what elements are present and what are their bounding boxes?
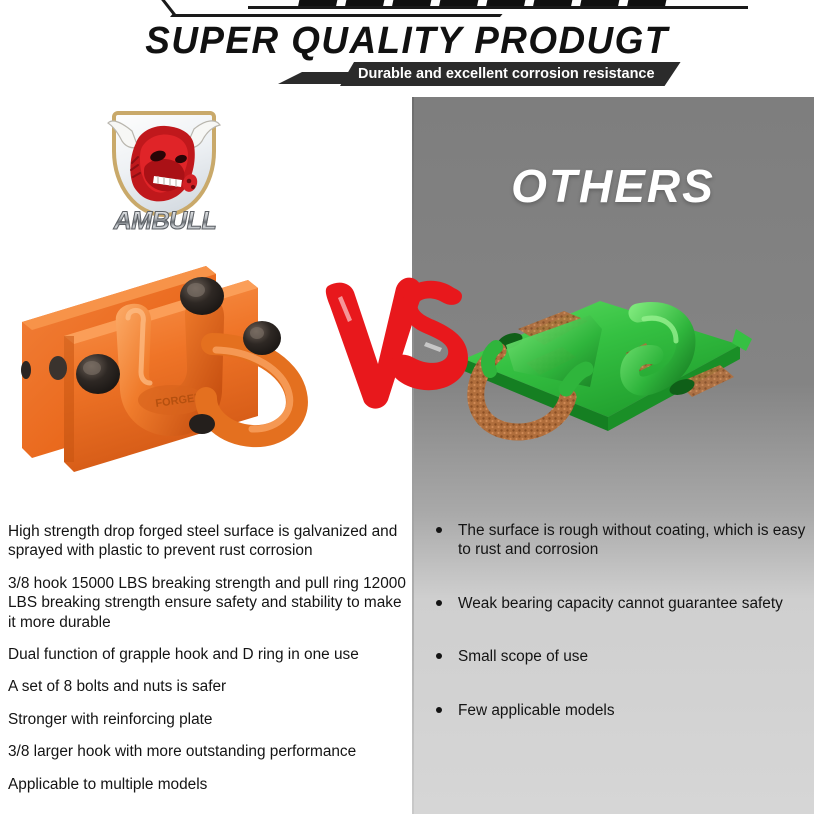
list-item: Weak bearing capacity cannot guarantee s… [432, 594, 814, 613]
list-item: Dual function of grapple hook and D ring… [8, 645, 406, 664]
product-comparison-infographic: SUPER QUALITY PRODUGT Durable and excell… [0, 0, 814, 814]
list-item: 3/8 hook 15000 LBS breaking strength and… [8, 574, 406, 632]
header-rule-top [248, 6, 748, 9]
vs-icon [322, 272, 472, 412]
header-banner: SUPER QUALITY PRODUGT Durable and excell… [0, 0, 814, 97]
bullet-icon [436, 600, 442, 606]
ambull-feature-list: High strength drop forged steel surface … [8, 522, 406, 807]
subtitle-text: Durable and excellent corrosion resistan… [358, 66, 655, 82]
header-slash-decoration [160, 0, 176, 16]
list-item-label: Small scope of use [458, 648, 588, 665]
list-item: High strength drop forged steel surface … [8, 522, 406, 561]
page-title: SUPER QUALITY PRODUGT [12, 20, 802, 63]
list-item: Few applicable models [432, 701, 814, 720]
header-rule-angled [170, 14, 503, 17]
others-drawback-list: The surface is rough without coating, wh… [432, 521, 814, 754]
comparison-panels: AMBULL [0, 97, 814, 814]
ambull-logo: AMBULL [90, 107, 240, 252]
list-item: The surface is rough without coating, wh… [432, 521, 814, 560]
bullet-icon [436, 653, 442, 659]
brand-wordmark: AMBULL [90, 207, 240, 236]
others-heading: OTHERS [412, 159, 814, 213]
bull-head-icon [98, 113, 230, 217]
panel-others: OTHERS [412, 97, 814, 814]
list-item-label: The surface is rough without coating, wh… [458, 522, 805, 558]
list-item: Applicable to multiple models [8, 775, 406, 794]
ambull-product-image: FORGED [6, 252, 336, 482]
competitor-product-image [440, 267, 790, 467]
list-item: 3/8 larger hook with more outstanding pe… [8, 742, 406, 761]
bullet-icon [436, 527, 442, 533]
list-item: Small scope of use [432, 647, 814, 666]
subtitle-banner: Durable and excellent corrosion resistan… [340, 62, 681, 86]
list-item-label: Weak bearing capacity cannot guarantee s… [458, 595, 783, 612]
bullet-icon [436, 707, 442, 713]
panel-ambull: AMBULL [0, 97, 412, 814]
list-item: A set of 8 bolts and nuts is safer [8, 677, 406, 696]
list-item-label: Few applicable models [458, 702, 615, 719]
list-item: Stronger with reinforcing plate [8, 710, 406, 729]
